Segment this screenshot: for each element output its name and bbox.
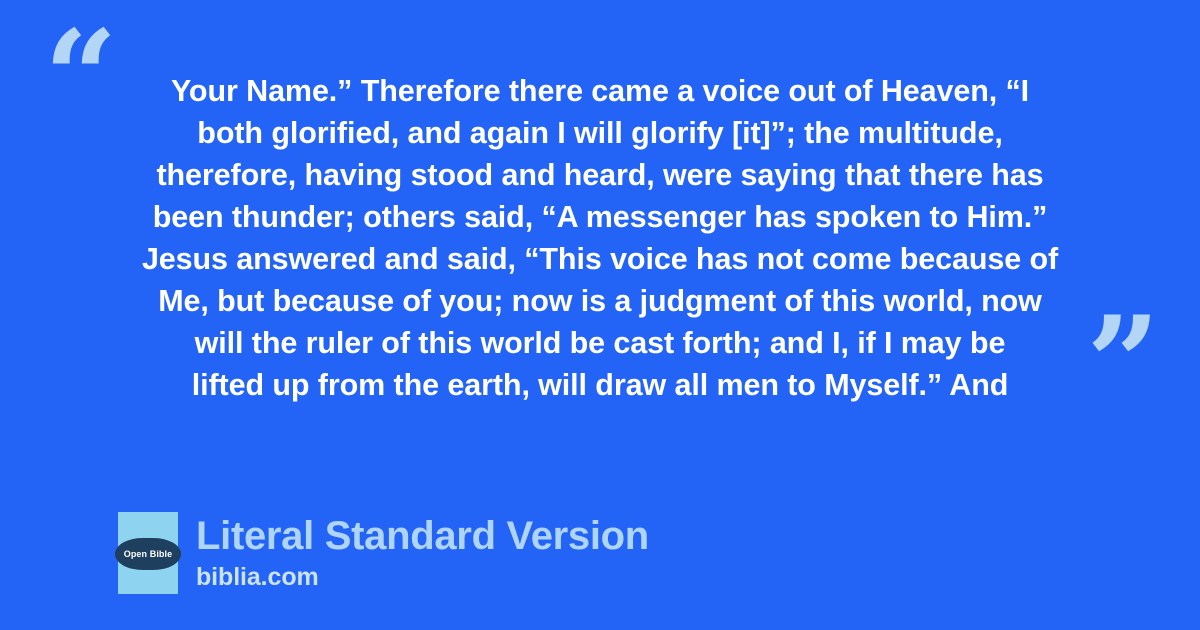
quote-line: both glorified, and again I will glorify… <box>100 112 1100 154</box>
bible-version-title: Literal Standard Version <box>196 513 649 559</box>
quote-line: Your Name.” Therefore there came a voice… <box>100 70 1100 112</box>
quote-line: lifted up from the earth, will draw all … <box>100 364 1100 406</box>
open-bible-book-icon: Open Bible <box>118 512 178 594</box>
book-icon-label: Open Bible <box>124 549 173 559</box>
quote-line: been thunder; others said, “A messenger … <box>100 196 1100 238</box>
attribution-text-group: Literal Standard Version biblia.com <box>196 513 649 593</box>
quote-line: Me, but because of you; now is a judgmen… <box>100 280 1100 322</box>
quote-line: Jesus answered and said, “This voice has… <box>100 238 1100 280</box>
quote-card: “ Your Name.” Therefore there came a voi… <box>0 0 1200 630</box>
close-quote-icon: ” <box>1086 300 1158 428</box>
attribution-footer: Open Bible Literal Standard Version bibl… <box>118 512 649 594</box>
quote-line: therefore, having stood and heard, were … <box>100 154 1100 196</box>
quote-line: will the ruler of this world be cast for… <box>100 322 1100 364</box>
site-url-label: biblia.com <box>196 561 649 593</box>
quote-text: Your Name.” Therefore there came a voice… <box>100 70 1100 406</box>
book-icon-band: Open Bible <box>115 538 181 570</box>
